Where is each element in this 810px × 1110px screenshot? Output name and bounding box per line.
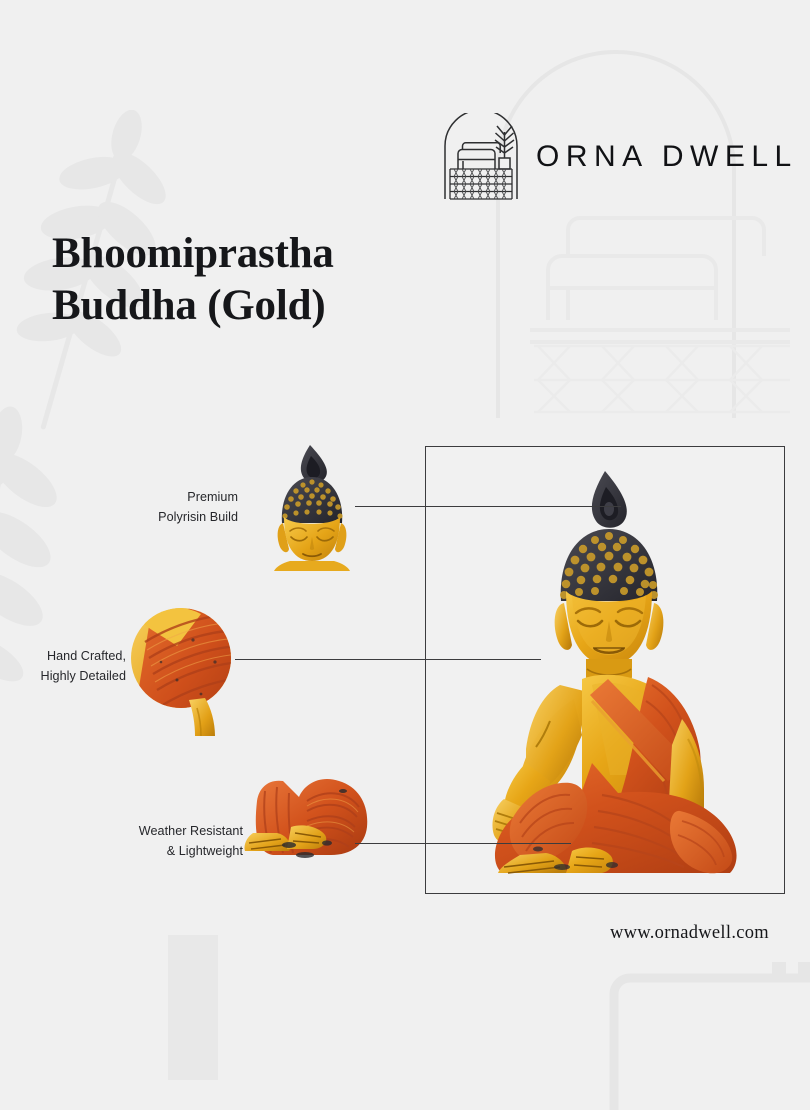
feature-label-line-2: Highly Detailed bbox=[41, 669, 126, 683]
feature-connector-line-3 bbox=[355, 843, 571, 844]
feature-thumb-head-detail bbox=[256, 443, 368, 571]
feature-label-line-1: Weather Resistant bbox=[139, 824, 243, 838]
feature-label-weather-resistant-lightweight: Weather Resistant & Lightweight bbox=[0, 822, 243, 861]
brand-logo[interactable]: ORNA DWELL bbox=[440, 113, 798, 201]
background-furniture-lineart-icon bbox=[600, 960, 810, 1110]
product-hero-image bbox=[426, 447, 784, 893]
feature-label-line-1: Premium bbox=[187, 490, 238, 504]
buddha-head-detail-icon bbox=[256, 443, 368, 571]
buddha-statue-illustration-icon bbox=[442, 463, 772, 883]
page-title-line-1: Bhoomiprastha bbox=[52, 228, 472, 280]
buddha-base-feet-detail-icon bbox=[243, 771, 369, 869]
feature-connector-line-2 bbox=[235, 659, 541, 660]
product-hero-frame bbox=[425, 446, 785, 894]
arch-sofa-plant-logo-icon bbox=[440, 113, 522, 201]
feature-connector-line-1 bbox=[355, 506, 621, 507]
page-title: Bhoomiprastha Buddha (Gold) bbox=[52, 228, 472, 333]
feature-label-premium-polyrisin-build: Premium Polyrisin Build bbox=[0, 488, 238, 527]
feature-label-hand-crafted-highly-detailed: Hand Crafted, Highly Detailed bbox=[0, 647, 126, 686]
footer-website-url[interactable]: www.ornadwell.com bbox=[0, 923, 769, 944]
feature-label-line-2: Polyrisin Build bbox=[158, 510, 238, 524]
brand-name: ORNA DWELL bbox=[536, 140, 798, 174]
feature-thumb-base-feet-detail bbox=[243, 771, 369, 869]
background-logo-lineart-icon bbox=[490, 20, 810, 420]
feature-label-line-2: & Lightweight bbox=[167, 844, 243, 858]
background-band-accent bbox=[168, 935, 218, 1080]
buddha-robe-drape-detail-icon bbox=[131, 596, 241, 736]
page-title-line-2: Buddha (Gold) bbox=[52, 280, 472, 332]
feature-label-line-1: Hand Crafted, bbox=[47, 649, 126, 663]
background-band-left bbox=[0, 935, 168, 1080]
feature-thumb-robe-drape-detail bbox=[131, 596, 241, 736]
